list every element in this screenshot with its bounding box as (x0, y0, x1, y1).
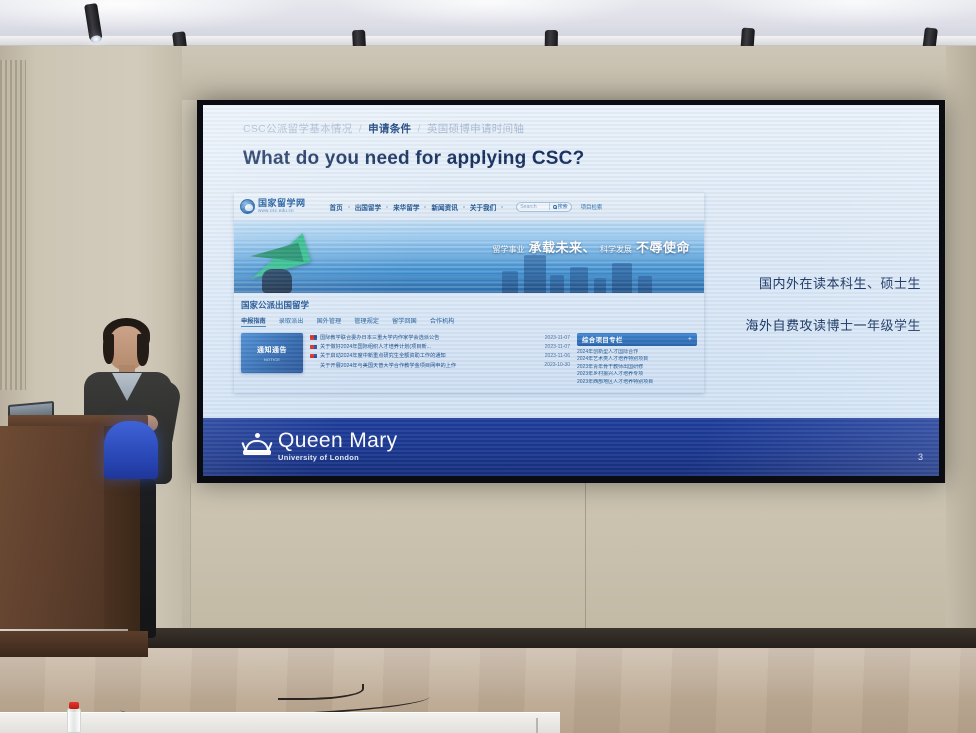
section-tab-application-guide[interactable]: 申报指南 (241, 316, 266, 327)
featured-projects-title: 综合项目专栏 (582, 335, 623, 344)
project-search-link[interactable]: 项目检索 (581, 203, 603, 211)
lecture-room: CSC公派留学基本情况 / 申请条件 / 英国硕博申请时间轴 What do y… (0, 0, 976, 733)
featured-project-item[interactable]: 2023年乡村振兴人才培养专项 (577, 371, 697, 378)
water-bottle[interactable] (66, 700, 82, 733)
section-title: 国家公派出国留学 (241, 299, 697, 311)
website-nav: 首页 出国留学 来华留学 新闻资讯 关于我们 Search (330, 202, 603, 212)
podium-blue-light-panel (104, 421, 158, 479)
plus-icon[interactable]: + (688, 336, 692, 343)
news-item-title: 关于做好2024年国际组织人才培养计划(项目新... (320, 343, 542, 350)
website-body: 国家公派出国留学 申报指南 录取派出 国外管理 管理规定 留学回国 合作机构 通… (234, 293, 704, 393)
news-item-title: 国际教学联合委办日本三重大学内作家学会选派公告 (320, 334, 542, 341)
featured-projects-list: 2024年创新型人才国际合作 2024年艺术类人才培养特别项目 2023年青年骨… (577, 349, 697, 386)
news-item[interactable]: 国际教学联合委办日本三重大学内作家学会选派公告 2023-11-07 (310, 333, 570, 342)
bottle-body (67, 708, 81, 733)
news-item-date: 2023-10-30 (544, 362, 570, 368)
slogan-part-2: 科学发展 (600, 245, 632, 254)
nav-item-study-abroad[interactable]: 出国留学 (355, 202, 381, 212)
search-icon (553, 205, 557, 209)
nav-item-news[interactable]: 新闻资讯 (431, 202, 457, 212)
podium-base (0, 631, 148, 657)
notice-promo-box[interactable]: 通知通告 NOTICE (241, 333, 303, 373)
slide-annotation-1: 国内外在读本科生、硕士生 (759, 273, 921, 292)
queen-mary-wordmark: Queen Mary University of London (278, 430, 398, 462)
featured-project-item[interactable]: 2024年创新型人才国际合作 (577, 349, 697, 356)
section-tab-overseas-management[interactable]: 国外管理 (317, 316, 342, 327)
wood-panel-below-screen (190, 483, 946, 628)
news-item-date: 2023-11-06 (545, 353, 570, 359)
slide-page-number: 3 (918, 452, 923, 462)
featured-project-item[interactable]: 2023年西部地区人才培养特别项目 (577, 379, 697, 386)
news-item-title: 关于开展2024年与美国天普大学合作教学金项目网申的上作 (320, 362, 541, 369)
website-search-box[interactable]: Search 搜索 (516, 202, 571, 212)
slide-annotation-2: 海外自费攻读博士一年级学生 (745, 315, 921, 334)
front-table (0, 712, 560, 733)
flag-icon (310, 354, 317, 359)
nav-dot (501, 206, 503, 208)
featured-projects-header: 综合项目专栏 + (577, 333, 697, 346)
flag-icon (310, 335, 317, 340)
crown-icon (243, 436, 271, 455)
website-banner: 留学事业 承载未来、 科学发展 不辱使命 (234, 221, 704, 293)
csc-logo: 国家留学网 www.csc.edu.cn (240, 199, 306, 214)
news-item-date: 2023-11-07 (545, 335, 570, 341)
nav-dot (424, 206, 426, 208)
slide-title: What do you need for applying CSC? (243, 148, 917, 170)
flag-icon-placeholder (310, 363, 317, 368)
slogan-emph-1: 承载未来、 (528, 240, 596, 255)
presentation-screen: CSC公派留学基本情况 / 申请条件 / 英国硕博申请时间轴 What do y… (203, 105, 939, 476)
institution-subtitle: University of London (278, 454, 398, 462)
featured-projects-panel: 综合项目专栏 + 2024年创新型人才国际合作 2024年艺术类人才培养特别项目… (577, 333, 697, 386)
panel-seam-1 (585, 483, 586, 628)
section-tabs: 申报指南 录取派出 国外管理 管理规定 留学回国 合作机构 (241, 316, 697, 327)
notice-promo-sublabel: NOTICE (264, 357, 280, 362)
nav-dot (348, 206, 350, 208)
queen-mary-logo: Queen Mary University of London (243, 430, 398, 462)
breadcrumb-separator: / (359, 123, 362, 135)
slide-footer: Queen Mary University of London 3 (203, 418, 939, 476)
ceiling-recess (0, 36, 976, 46)
table-divider (536, 718, 538, 733)
nav-dot (463, 206, 465, 208)
breadcrumb-item-2: 英国硕博申请时间轴 (427, 123, 524, 135)
news-item[interactable]: 关于做好2024年国际组织人才培养计划(项目新... 2023-11-07 (310, 342, 570, 351)
slogan-emph-2: 不辱使命 (636, 240, 690, 255)
csc-logo-text: 国家留学网 www.csc.edu.cn (258, 199, 306, 214)
paper-plane-graphic (246, 237, 324, 293)
website-columns: 通知通告 NOTICE 国际教学联合委办日本三重大学内作家学会选派公告 2023… (241, 333, 697, 386)
news-item[interactable]: 关于启动2024年度中新重点研究生全额资助工作的通知 2023-11-06 (310, 351, 570, 360)
nav-item-home[interactable]: 首页 (330, 202, 343, 212)
institution-name: Queen Mary (278, 430, 398, 451)
slogan-part-1: 留学事业 (492, 245, 524, 254)
news-item[interactable]: 关于开展2024年与美国天普大学合作教学金项目网申的上作 2023-10-30 (310, 361, 570, 370)
notice-promo-label: 通知通告 (257, 345, 287, 355)
banner-slogan: 留学事业 承载未来、 科学发展 不辱使命 (492, 237, 690, 257)
podium (0, 415, 148, 660)
featured-project-item[interactable]: 2023年青年骨干教师出国研修 (577, 364, 697, 371)
section-tab-regulations[interactable]: 管理规定 (354, 316, 379, 327)
wall-ribbed-panel (0, 60, 26, 390)
website-header: 国家留学网 www.csc.edu.cn 首页 出国留学 来华留学 新闻资讯 (234, 193, 704, 221)
featured-project-item[interactable]: 2024年艺术类人才培养特别项目 (577, 356, 697, 363)
csc-logo-cn: 国家留学网 (258, 199, 306, 208)
nav-item-study-in-china[interactable]: 来华留学 (393, 202, 419, 212)
breadcrumb-separator: / (418, 123, 421, 135)
news-item-title: 关于启动2024年度中新重点研究生全额资助工作的通知 (320, 352, 542, 359)
news-item-date: 2023-11-07 (545, 344, 570, 350)
search-input-placeholder[interactable]: Search (520, 204, 536, 210)
presenter-hair-left (103, 334, 114, 364)
search-button-label: 搜索 (558, 203, 568, 210)
section-tab-partners[interactable]: 合作机构 (430, 316, 455, 327)
breadcrumb-item-1: 申请条件 (368, 123, 411, 135)
slide-breadcrumb: CSC公派留学基本情况 / 申请条件 / 英国硕博申请时间轴 (243, 121, 917, 136)
csc-logo-url: www.csc.edu.cn (258, 209, 306, 214)
nav-dot (386, 206, 388, 208)
search-button[interactable]: 搜索 (549, 203, 568, 210)
presenter-hair-right (137, 334, 149, 366)
csc-seal-icon (240, 199, 255, 214)
breadcrumb-item-0: CSC公派留学基本情况 (243, 123, 352, 135)
section-tab-return[interactable]: 留学回国 (392, 316, 417, 327)
led-screen-bezel: CSC公派留学基本情况 / 申请条件 / 英国硕博申请时间轴 What do y… (197, 100, 945, 483)
news-list: 国际教学联合委办日本三重大学内作家学会选派公告 2023-11-07 关于做好2… (310, 333, 570, 386)
ceiling-glow (0, 0, 976, 40)
bottle-cap (69, 702, 79, 709)
embedded-website-screenshot: 国家留学网 www.csc.edu.cn 首页 出国留学 来华留学 新闻资讯 (234, 193, 704, 393)
wall-column-right (946, 46, 976, 660)
flag-icon (310, 345, 317, 350)
section-tab-admission[interactable]: 录取派出 (279, 316, 304, 327)
hand-silhouette (262, 269, 292, 293)
nav-item-about-us[interactable]: 关于我们 (470, 202, 496, 212)
